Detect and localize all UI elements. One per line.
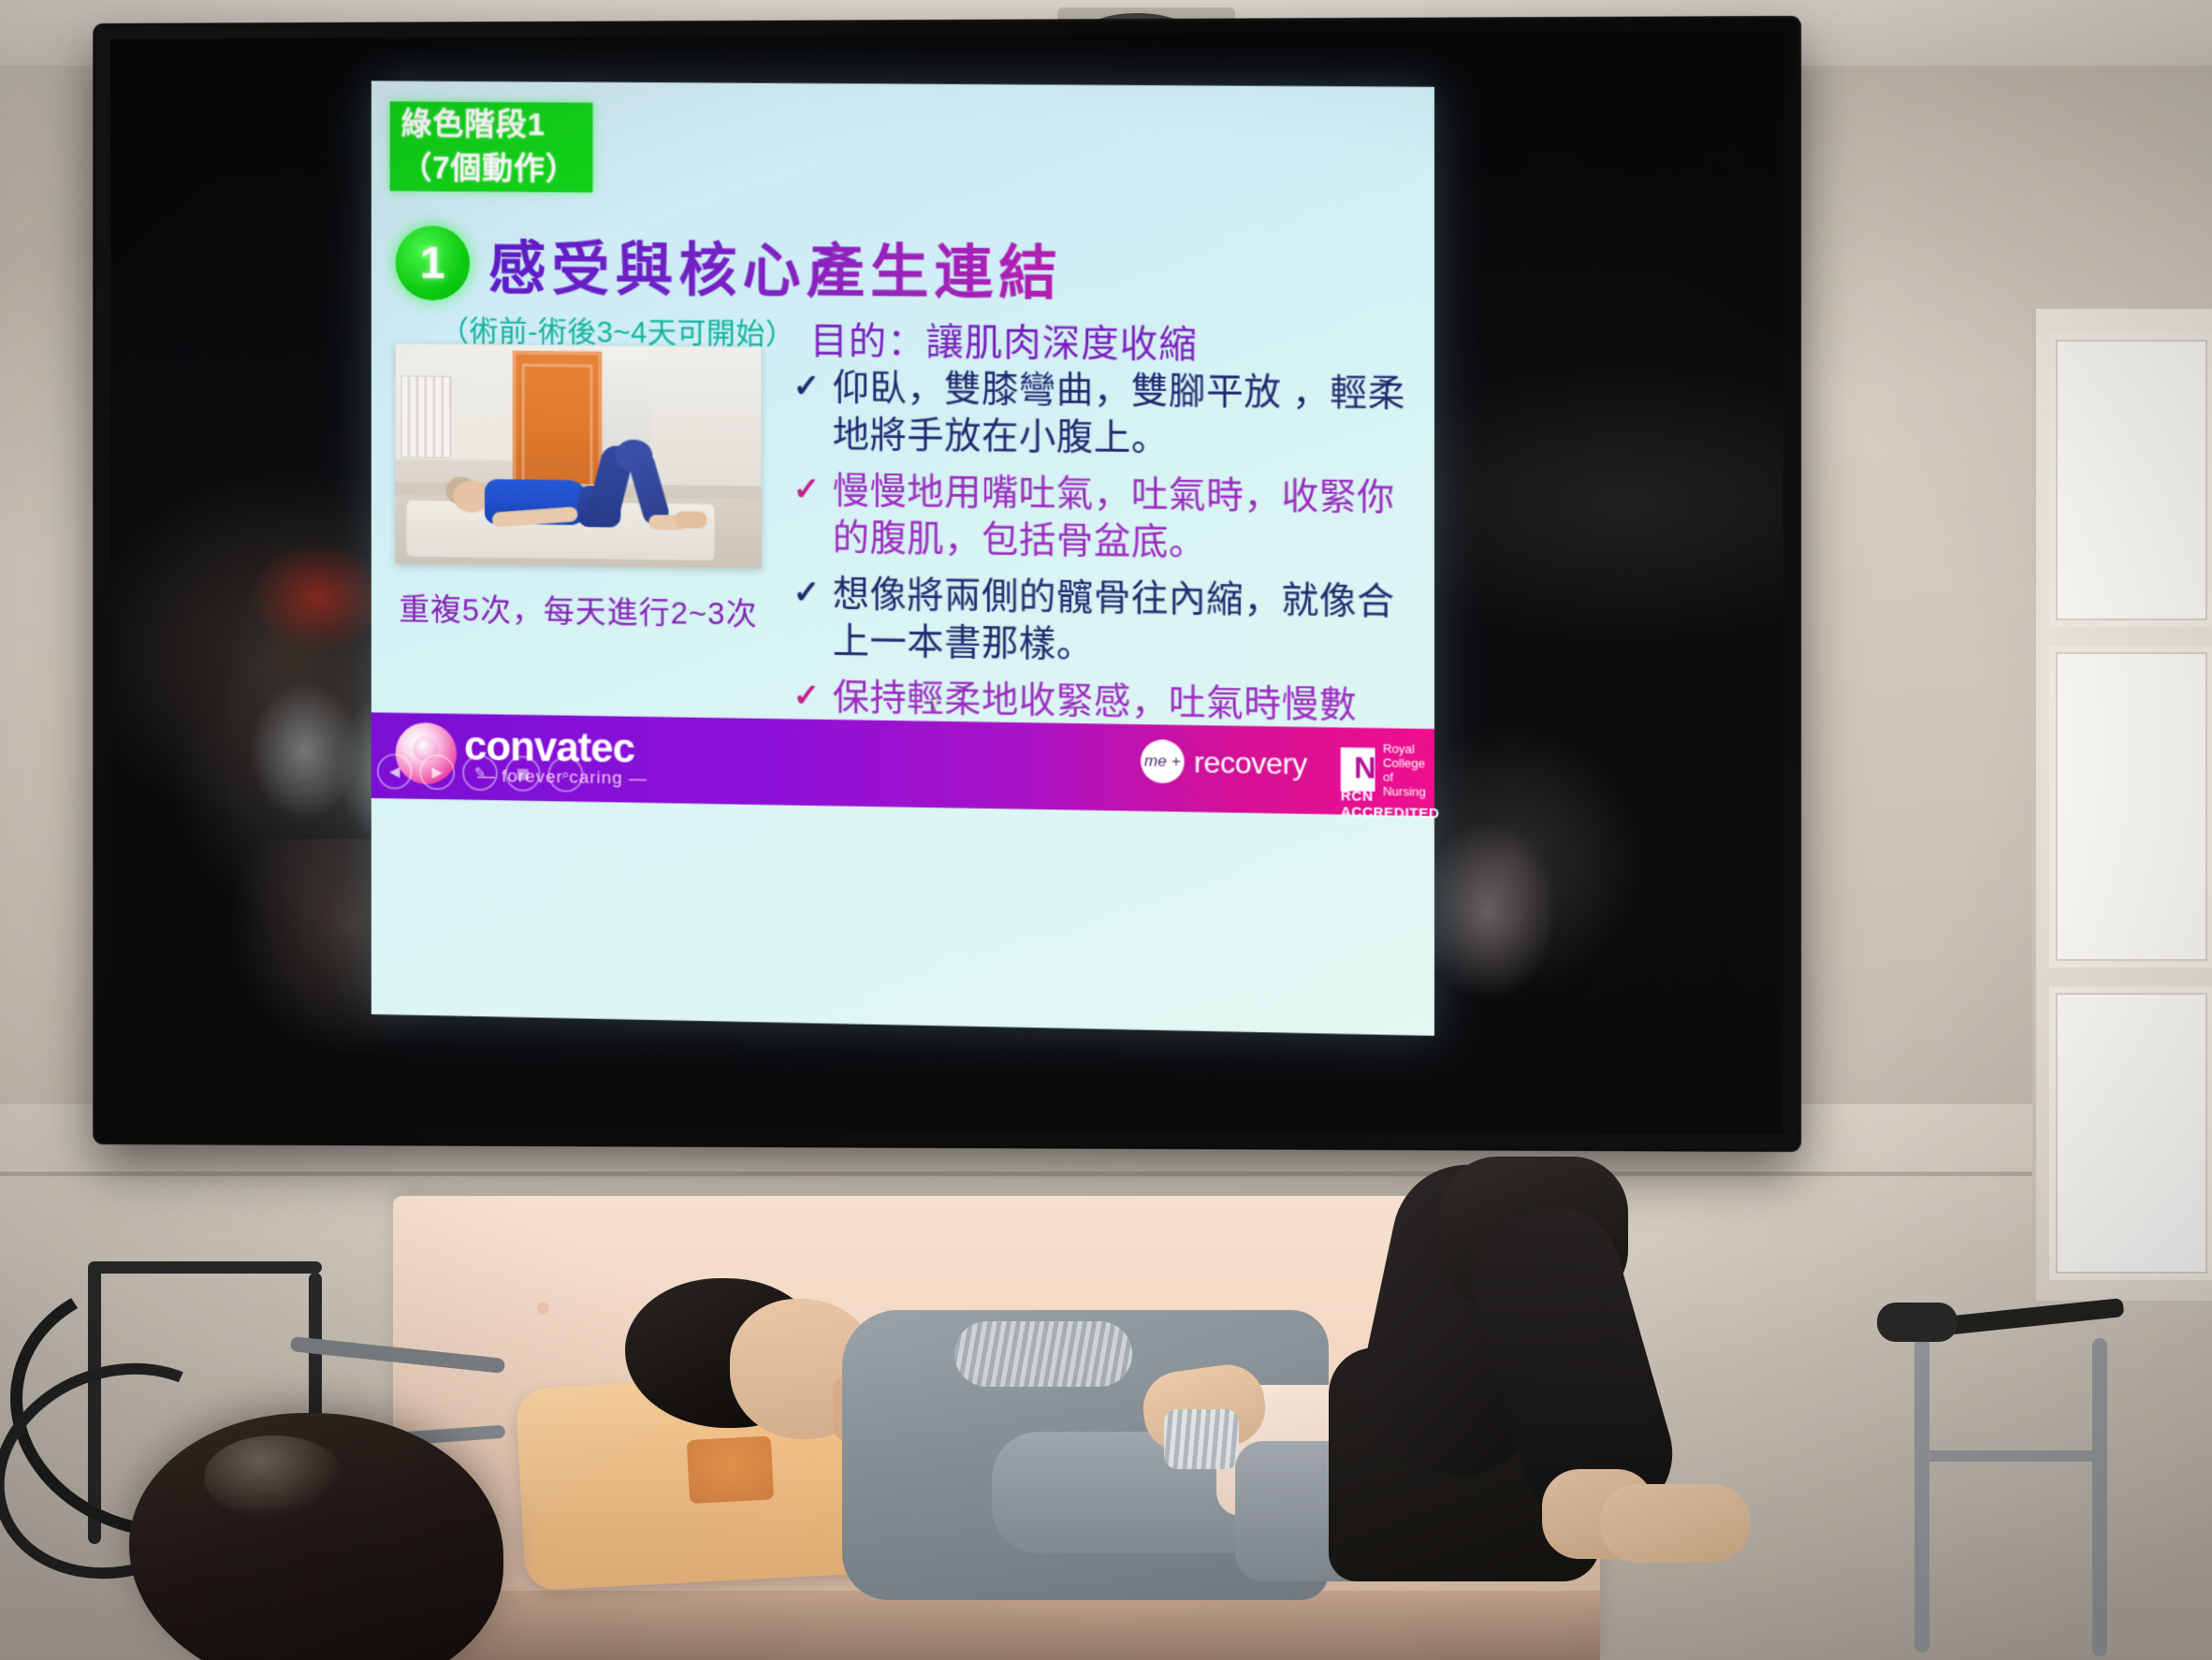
presentation-slide: 綠色階段1 （7個動作） 1 感受與核心產生連結 （術前-術後3~4天可開始） bbox=[371, 80, 1434, 1035]
room-scene: 綠色階段1 （7個動作） 1 感受與核心產生連結 （術前-術後3~4天可開始） bbox=[0, 0, 2212, 1660]
cabinet-panel-3 bbox=[2049, 986, 2212, 1280]
rcn-line-1: Royal College bbox=[1383, 741, 1439, 770]
list-item: ✓ 想像將兩側的髖骨往內縮，就像合上一本書那樣。 bbox=[793, 571, 1419, 674]
list-item: ✓ 慢慢地用嘴吐氣，吐氣時，收緊你的腹肌，包括骨盆底。 bbox=[793, 468, 1419, 570]
checkmark-icon: ✓ bbox=[793, 569, 821, 617]
wall-mounted-tv: 綠色階段1 （7個動作） 1 感受與核心產生連結 （術前-術後3~4天可開始） bbox=[95, 19, 1798, 1149]
recovery-wordmark: recovery bbox=[1194, 745, 1307, 781]
me-plus-badge-icon: me + bbox=[1141, 739, 1185, 783]
photo-orange-door bbox=[513, 351, 603, 502]
cabinet-panel-1 bbox=[2049, 333, 2212, 627]
checkmark-icon: ✓ bbox=[793, 466, 821, 513]
reflection-red-banner bbox=[249, 541, 388, 652]
tv-screen: 綠色階段1 （7個動作） 1 感受與核心產生連結 （術前-術後3~4天可開始） bbox=[110, 32, 1783, 1134]
frame-crossbar bbox=[88, 1261, 322, 1274]
step-number-label: 1 bbox=[420, 240, 445, 286]
demonstrator-collar-stripes bbox=[954, 1321, 1132, 1387]
stage-badge-line1: 綠色階段1 bbox=[390, 101, 593, 146]
wall-seam bbox=[0, 1172, 2212, 1176]
rcn-accredited-label: RCN ACCREDITED bbox=[1341, 788, 1440, 822]
list-item-text: 慢慢地用嘴吐氣，吐氣時，收緊你的腹肌，包括骨盆底。 bbox=[833, 471, 1395, 562]
zoom-in-button[interactable]: ⌕ bbox=[548, 756, 584, 793]
bed-rail-1 bbox=[290, 1336, 505, 1374]
slide-title: 感受與核心產生連結 bbox=[488, 222, 1063, 311]
pen-tool-button[interactable]: ✎ bbox=[462, 755, 498, 792]
list-item-text: 想像將兩側的髖骨往內縮，就像合上一本書那樣。 bbox=[833, 575, 1395, 665]
repeat-caption: 重複5次，每天進行2~3次 bbox=[392, 584, 765, 633]
cabinet-panel-2 bbox=[2049, 646, 2212, 968]
list-item-text: 仰臥，雙膝彎曲，雙腳平放 ，輕柔地將手放在小腹上。 bbox=[833, 368, 1405, 459]
walker-leg-right bbox=[2092, 1338, 2107, 1656]
exercise-photo bbox=[396, 343, 762, 568]
previous-slide-button[interactable]: ◀ bbox=[377, 753, 413, 789]
photo-radiator bbox=[401, 375, 452, 458]
presenter-controls[interactable]: ◀ ▶ ✎ ▦ ⌕ bbox=[377, 753, 584, 793]
walker-grip bbox=[1877, 1303, 1957, 1342]
list-item: ✓ 仰臥，雙膝彎曲，雙腳平放 ，輕柔地將手放在小腹上。 bbox=[793, 365, 1419, 466]
foreground-hair-highlight bbox=[204, 1435, 344, 1520]
walker-leg-left bbox=[1914, 1334, 1929, 1653]
photo-person-foot-2 bbox=[675, 511, 706, 528]
checkmark-icon: ✓ bbox=[793, 672, 821, 720]
rcn-mark-icon bbox=[1341, 748, 1375, 792]
stage-badge: 綠色階段1 （7個動作） bbox=[390, 101, 593, 192]
demonstrator-foot bbox=[1600, 1484, 1750, 1563]
slide-footer-bar: convatec — forever caring — ◀ ▶ ✎ ▦ ⌕ me… bbox=[371, 712, 1434, 816]
me-plus-recovery-logo: me + recovery bbox=[1141, 739, 1307, 785]
demonstrator-cuff bbox=[1164, 1409, 1239, 1469]
checkmark-icon: ✓ bbox=[793, 363, 821, 410]
stage-badge-line2: （7個動作） bbox=[390, 145, 593, 190]
photo-wall-right bbox=[650, 346, 761, 488]
slide-grid-button[interactable]: ▦ bbox=[505, 755, 541, 792]
step-number-circle: 1 bbox=[396, 226, 470, 300]
bed-shadow bbox=[393, 1591, 1600, 1660]
purpose-heading: 目的：讓肌肉深度收縮 bbox=[810, 311, 1198, 369]
walker-crossbar bbox=[1918, 1450, 2105, 1462]
wall-cabinet bbox=[2032, 309, 2212, 1301]
walking-frame bbox=[1853, 1310, 2161, 1660]
next-slide-button[interactable]: ▶ bbox=[419, 754, 455, 790]
pillow-embroidery bbox=[687, 1435, 774, 1504]
reflection-person-3 bbox=[1417, 823, 1558, 1001]
